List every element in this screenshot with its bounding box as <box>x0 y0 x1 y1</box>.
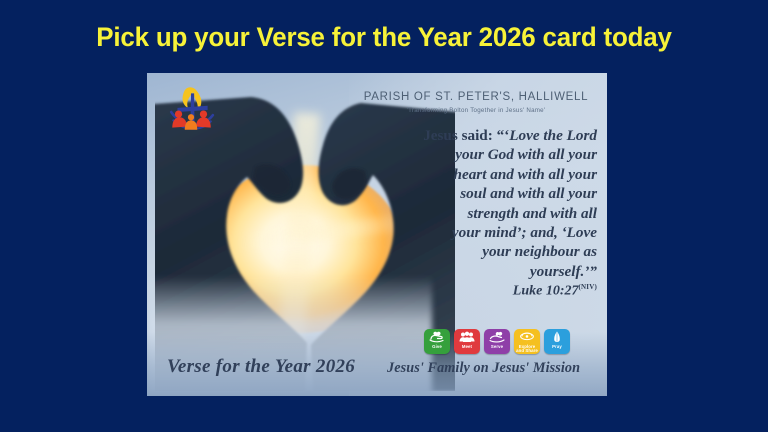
verse-line-8: yourself.’” <box>530 263 597 280</box>
badge-serve[interactable]: Serve <box>484 329 510 354</box>
verse-line-2: your God with all your <box>455 146 597 163</box>
badge-give[interactable]: Give <box>424 329 450 354</box>
verse-line-7: your neighbour as <box>482 243 597 260</box>
badge-pray-label: Pray <box>552 345 562 350</box>
citation-version: (NIV) <box>579 283 598 291</box>
badge-meet[interactable]: Meet <box>454 329 480 354</box>
parish-tagline: 'Transforming Bolton Together in Jesus' … <box>357 107 595 114</box>
verse-citation: Luke 10:27(NIV) <box>392 283 597 300</box>
badge-meet-label: Meet <box>462 345 472 350</box>
card-footer-right: Jesus' Family on Jesus' Mission <box>387 360 580 377</box>
verse-line-4: soul and with all your <box>460 185 597 202</box>
parish-cross-flame-logo <box>165 85 217 137</box>
badge-give-label: Give <box>432 345 442 350</box>
slide: Pick up your Verse for the Year 2026 car… <box>0 0 768 432</box>
badge-explore-share-label: Serve <box>491 345 503 350</box>
parish-name: PARISH OF ST. PETER'S, HALLIWELL <box>357 91 595 103</box>
giving-hand-icon <box>429 331 445 344</box>
verse-lead-in: Jesus said: “‘ <box>423 127 509 144</box>
citation-reference: Luke 10:27 <box>513 284 579 299</box>
serving-hand-icon <box>489 331 505 344</box>
crown-icon <box>519 331 535 344</box>
mission-badges: Give Meet Serve <box>424 329 570 354</box>
page-title: Pick up your Verse for the Year 2026 car… <box>15 22 752 53</box>
verse-line-1: Love the Lord <box>509 127 597 144</box>
badge-explore-line-2: and Share <box>516 349 538 354</box>
verse-line-3: heart and with all your <box>454 166 597 183</box>
badge-explore-and-share[interactable]: Explore and Share <box>514 329 540 354</box>
praying-hands-icon <box>549 331 565 344</box>
verse-text: Jesus said: “‘Love the Lord your God wit… <box>392 126 597 281</box>
verse-line-6: your mind’; and, ‘Love <box>452 224 597 241</box>
badge-pray[interactable]: Pray <box>544 329 570 354</box>
verse-line-5: strength and with all <box>467 205 597 222</box>
people-group-icon <box>459 331 475 344</box>
verse-card: PARISH OF ST. PETER'S, HALLIWELL 'Transf… <box>147 73 607 396</box>
card-footer-left: Verse for the Year 2026 <box>167 356 355 378</box>
